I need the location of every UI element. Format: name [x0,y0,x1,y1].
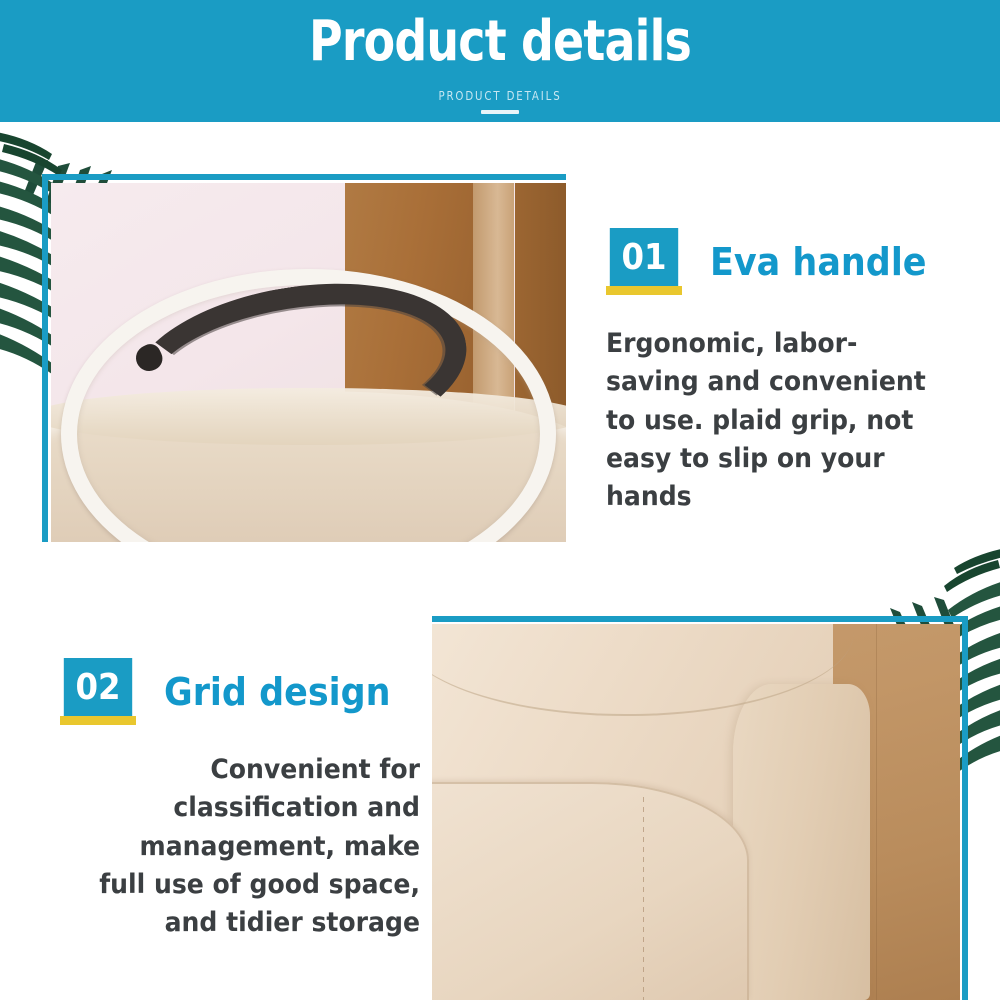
photo-frame-border-teal [432,616,968,1000]
section-block-02: 02 Grid design Convenient for classifica… [60,658,420,943]
section-number-badge-wrap-02: 02 [60,658,136,725]
header-divider-dash [481,110,519,114]
page-header: Product details PRODUCT DETAILS [0,0,1000,122]
page-subtitle: PRODUCT DETAILS [75,89,925,103]
badge-underline-02 [60,716,136,725]
section-body-02: Convenient for classification and manage… [85,751,420,943]
section-title-01: Eva handle [710,240,927,284]
section-heading-row-01: 01 Eva handle [606,228,972,295]
section-body-01: Ergonomic, labor-saving and convenient t… [606,325,946,517]
photo-frame-eva-handle [42,174,566,542]
photo-frame-border-teal [42,174,566,542]
section-number-badge-01: 01 [610,228,678,286]
section-title-02: Grid design [164,670,391,714]
product-details-infographic: Product details PRODUCT DETAILS [0,0,1000,1000]
section-block-01: 01 Eva handle Ergonomic, labor-saving an… [606,228,972,517]
section-number-badge-wrap-01: 01 [606,228,682,295]
photo-frame-grid-design [432,616,968,1000]
section-number-badge-02: 02 [64,658,132,716]
page-title: Product details [90,14,910,70]
section-heading-row-02: 02 Grid design [60,658,420,725]
badge-underline-01 [606,286,682,295]
